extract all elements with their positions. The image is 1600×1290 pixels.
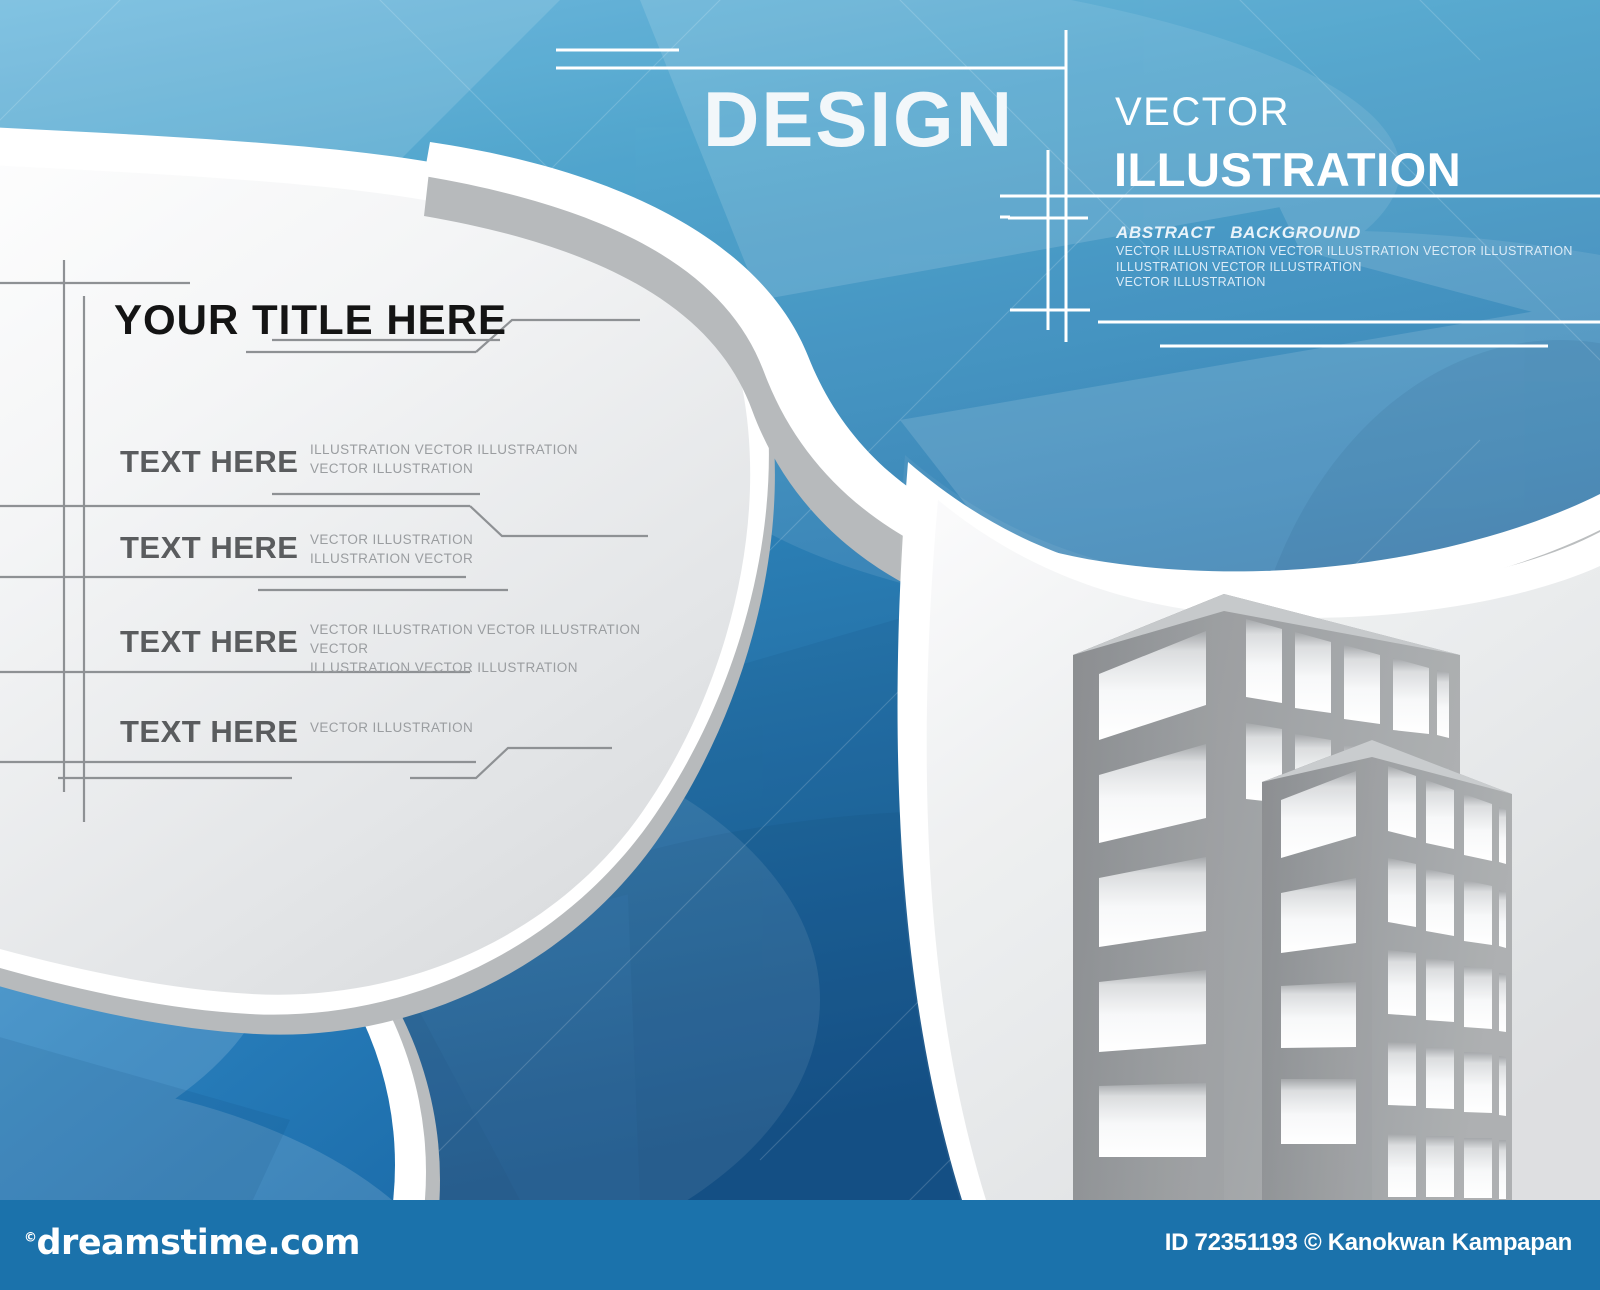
row-label-4: TEXT HERE bbox=[120, 714, 298, 750]
row-desc-3: VECTOR ILLUSTRATION VECTOR ILLUSTRATION … bbox=[310, 620, 700, 677]
row-label-2: TEXT HERE bbox=[120, 530, 298, 566]
dreamstime-logo-text: dreamstime.com bbox=[37, 1223, 360, 1263]
left-panel-content: YOUR TITLE HERE TEXT HERE ILLUSTRATION V… bbox=[0, 0, 700, 830]
row-desc-2: VECTOR ILLUSTRATION ILLUSTRATION VECTOR bbox=[310, 530, 473, 568]
page-title: YOUR TITLE HERE bbox=[114, 296, 507, 344]
design-heading: DESIGN bbox=[703, 80, 1014, 158]
illustration-heading: ILLUSTRATION bbox=[1114, 146, 1461, 193]
dreamstime-logo[interactable]: ©dreamstime.com bbox=[24, 1223, 360, 1263]
row-desc-1: ILLUSTRATION VECTOR ILLUSTRATION VECTOR … bbox=[310, 440, 578, 478]
row-desc-4: VECTOR ILLUSTRATION bbox=[310, 718, 473, 737]
watermark-footer: ©dreamstime.com ID 72351193 © Kanokwan K… bbox=[0, 1200, 1600, 1290]
header-body-text: VECTOR ILLUSTRATION VECTOR ILLUSTRATION … bbox=[1116, 244, 1573, 291]
vector-heading: VECTOR bbox=[1115, 92, 1290, 132]
poster-canvas: YOUR TITLE HERE TEXT HERE ILLUSTRATION V… bbox=[0, 0, 1600, 1290]
row-label-1: TEXT HERE bbox=[120, 444, 298, 480]
abstract-subheading: ABSTRACT BACKGROUND bbox=[1116, 223, 1361, 243]
row-label-3: TEXT HERE bbox=[120, 624, 298, 660]
copyright-superscript-icon: © bbox=[24, 1230, 37, 1245]
image-credit: ID 72351193 © Kanokwan Kampapan bbox=[1165, 1229, 1572, 1257]
